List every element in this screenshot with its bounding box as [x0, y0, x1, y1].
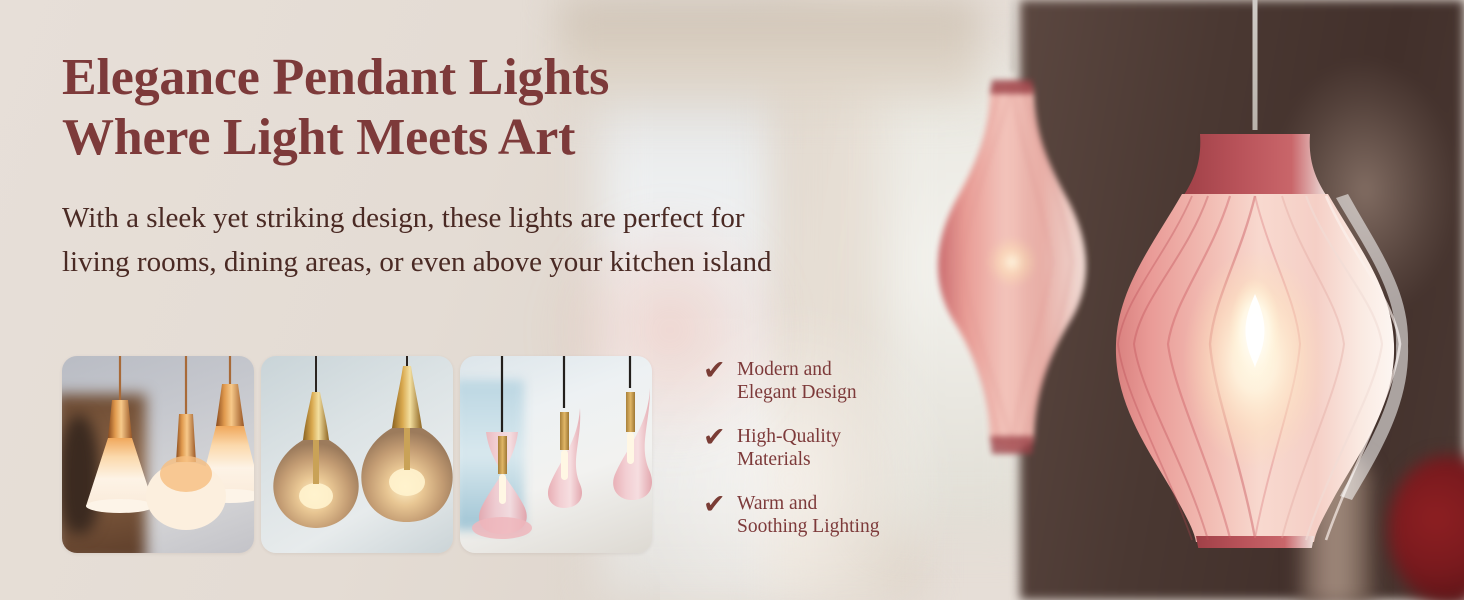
- cone-pendant-lights-thumbnail[interactable]: [62, 356, 254, 553]
- page-title: Elegance Pendant Lights Where Light Meet…: [62, 48, 822, 168]
- feature-label-line-2: Soothing Lighting: [737, 516, 879, 537]
- headline-line-1: Elegance Pendant Lights: [62, 49, 609, 106]
- check-icon: ✔: [703, 358, 737, 383]
- pink-glass-lamps-illustration: [460, 356, 652, 553]
- hero-lamp-cord: [1253, 0, 1258, 130]
- feature-label: High-Quality Materials: [737, 425, 841, 471]
- feature-label-line-2: Elegant Design: [737, 382, 857, 403]
- product-banner: Elegance Pendant Lights Where Light Meet…: [0, 0, 1464, 600]
- teardrop-pendant-lights-thumbnail[interactable]: [261, 356, 453, 553]
- hero-lamp-shade: [1090, 128, 1420, 548]
- teardrop-lamps-illustration: [261, 356, 453, 553]
- feature-label-line-1: Modern and: [737, 359, 832, 380]
- pink-glass-pendant-lights-thumbnail[interactable]: [460, 356, 652, 553]
- hero-pendant-lamp: [1090, 0, 1420, 530]
- lamp-cord: [1011, 0, 1014, 72]
- list-item: ✔ Modern and Elegant Design: [703, 358, 963, 404]
- headline-line-2: Where Light Meets Art: [62, 108, 822, 168]
- feature-label: Modern and Elegant Design: [737, 358, 857, 404]
- banner-content: Elegance Pendant Lights Where Light Meet…: [0, 0, 1000, 600]
- feature-label-line-1: High-Quality: [737, 426, 841, 447]
- feature-label-line-2: Materials: [737, 449, 811, 470]
- thumbnail-gallery: [62, 356, 652, 553]
- subheadline: With a sleek yet striking design, these …: [62, 196, 782, 284]
- feature-list: ✔ Modern and Elegant Design ✔ High-Quali…: [703, 358, 963, 538]
- check-icon: ✔: [703, 425, 737, 450]
- feature-label: Warm and Soothing Lighting: [737, 492, 879, 538]
- list-item: ✔ Warm and Soothing Lighting: [703, 492, 963, 538]
- cone-lamps-illustration: [62, 356, 254, 553]
- feature-label-line-1: Warm and: [737, 493, 817, 514]
- check-icon: ✔: [703, 492, 737, 517]
- list-item: ✔ High-Quality Materials: [703, 425, 963, 471]
